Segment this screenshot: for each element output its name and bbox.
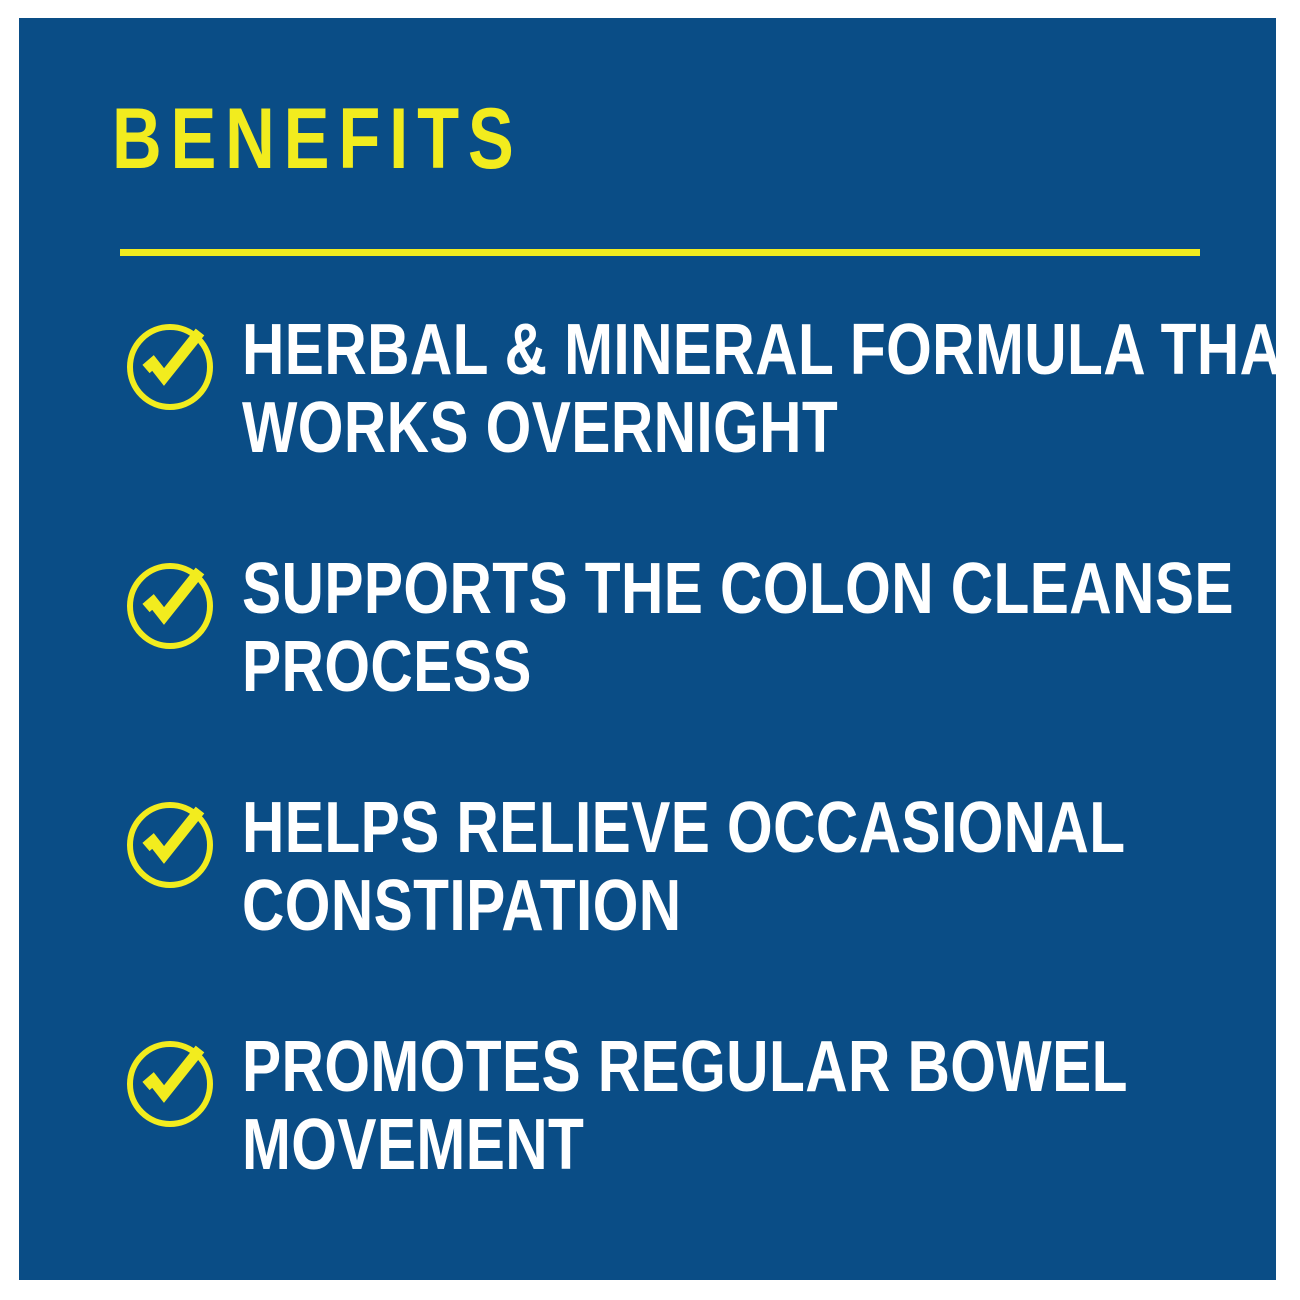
benefits-panel: BENEFITS HERBAL & MINERAL FORMULA THAT W… bbox=[19, 18, 1276, 1280]
list-item: SUPPORTS THE COLON CLEANSE PROCESS bbox=[19, 550, 1276, 787]
title-divider bbox=[120, 249, 1200, 256]
list-item-label: PROMOTES REGULAR BOWEL MOVEMENT bbox=[242, 1028, 1276, 1184]
list-item-label: HELPS RELIEVE OCCASIONAL CONSTIPATION bbox=[242, 789, 1276, 945]
page-title: BENEFITS bbox=[112, 96, 523, 182]
benefits-list: HERBAL & MINERAL FORMULA THAT WORKS OVER… bbox=[19, 309, 1276, 1265]
check-circle-icon bbox=[126, 1040, 214, 1128]
list-item: HELPS RELIEVE OCCASIONAL CONSTIPATION bbox=[19, 789, 1276, 1026]
check-circle-icon bbox=[126, 323, 214, 411]
list-item: PROMOTES REGULAR BOWEL MOVEMENT bbox=[19, 1028, 1276, 1265]
check-circle-icon bbox=[126, 562, 214, 650]
list-item-label: SUPPORTS THE COLON CLEANSE PROCESS bbox=[242, 550, 1276, 706]
list-item: HERBAL & MINERAL FORMULA THAT WORKS OVER… bbox=[19, 311, 1276, 548]
check-circle-icon bbox=[126, 801, 214, 889]
page-canvas: BENEFITS HERBAL & MINERAL FORMULA THAT W… bbox=[0, 0, 1300, 1300]
list-item-label: HERBAL & MINERAL FORMULA THAT WORKS OVER… bbox=[242, 311, 1276, 467]
